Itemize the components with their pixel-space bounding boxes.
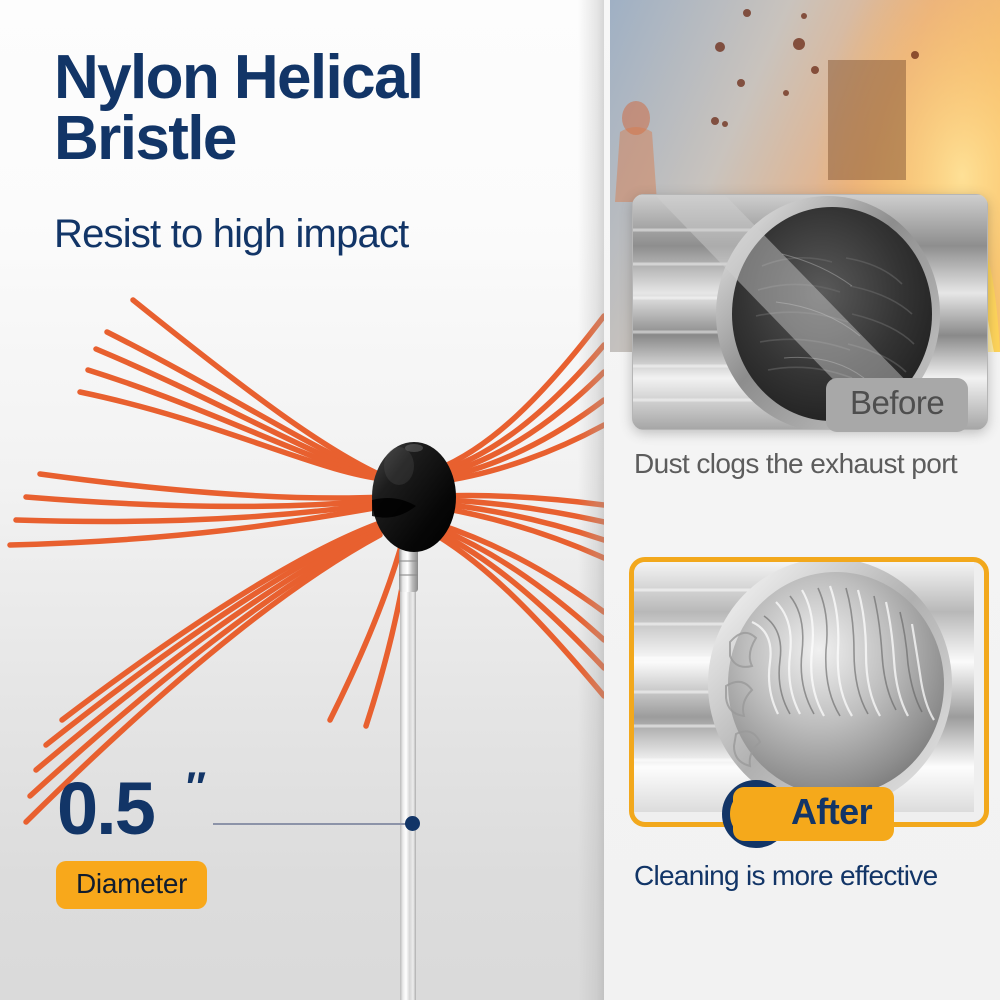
leader-dot-icon [405, 816, 420, 831]
before-caption: Dust clogs the exhaust port [634, 448, 994, 480]
product-infographic: Nylon Helical Bristle Resist to high imp… [0, 0, 1000, 1000]
inch-mark-icon: ″ [186, 766, 206, 808]
diameter-badge: Diameter [56, 861, 207, 909]
after-badge-label: After [791, 794, 872, 830]
diameter-value: 0.5 [57, 772, 154, 846]
helical-brush-head-icon [0, 0, 604, 1000]
leader-line [213, 823, 412, 825]
after-caption: Cleaning is more effective [634, 860, 1000, 892]
before-badge: Before [826, 378, 968, 432]
right-panel: Before Dust clogs the exhaust port [604, 0, 1000, 1000]
left-panel: Nylon Helical Bristle Resist to high imp… [0, 0, 604, 1000]
after-badge: After [733, 787, 894, 841]
